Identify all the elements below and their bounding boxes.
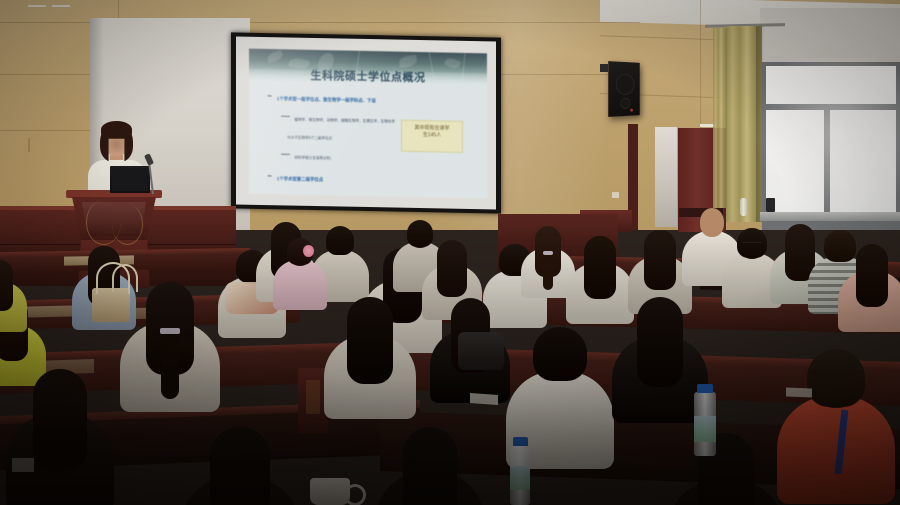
audience-person xyxy=(777,352,895,505)
audience-person xyxy=(838,246,900,338)
handbag-dark[interactable] xyxy=(458,332,504,370)
audience-person xyxy=(6,372,115,505)
audience-person-hair xyxy=(347,297,392,384)
bottle-label xyxy=(694,416,716,442)
hair-flower-accessory xyxy=(303,245,314,258)
audience-person xyxy=(668,436,783,505)
audience-person-hair xyxy=(644,230,675,290)
lecture-hall-photo: 生科院硕士学位点概况 - 1个学术型一级学位点、致生物学一级学科点、下设 – 植… xyxy=(0,0,900,505)
water-bottle[interactable] xyxy=(694,392,716,456)
hair-tie xyxy=(160,328,179,335)
hair-tie xyxy=(543,251,554,255)
audience-person-hair xyxy=(533,327,586,381)
audience-person-hair xyxy=(437,240,467,297)
audience-person xyxy=(0,262,27,337)
ponytail xyxy=(543,252,553,290)
audience-person-hair xyxy=(584,236,617,299)
audience-person-torso xyxy=(273,260,327,309)
ponytail xyxy=(161,329,179,399)
smartphone[interactable] xyxy=(766,198,775,212)
audience-person-hair xyxy=(33,369,86,471)
audience-person xyxy=(376,430,485,505)
audience-person xyxy=(324,300,417,428)
eyeglasses-icon xyxy=(742,242,763,248)
audience-person-hair xyxy=(403,427,456,505)
audience-person xyxy=(273,240,327,315)
paper-sheet xyxy=(786,388,812,398)
paper-sheet xyxy=(470,393,498,405)
handbag-strap xyxy=(112,264,138,292)
audience-person-hair xyxy=(210,427,269,505)
audience-person-hair xyxy=(0,260,13,311)
bottle-cap-icon xyxy=(513,437,528,446)
paper-sheet xyxy=(12,458,34,472)
audience-person xyxy=(179,430,301,505)
audience-person-hair xyxy=(856,244,889,307)
audience-person xyxy=(120,285,219,421)
audience-person-torso xyxy=(777,396,895,503)
water-bottle[interactable] xyxy=(740,198,747,216)
audience-person-hair xyxy=(637,297,684,387)
audience-layer xyxy=(0,0,900,505)
audience-person-hair xyxy=(326,226,354,254)
audience-person-hair xyxy=(807,349,865,407)
bottle-label xyxy=(510,466,530,490)
bottle-cap-icon xyxy=(697,384,713,393)
water-bottle[interactable] xyxy=(510,444,530,505)
mug-handle xyxy=(344,484,366,505)
